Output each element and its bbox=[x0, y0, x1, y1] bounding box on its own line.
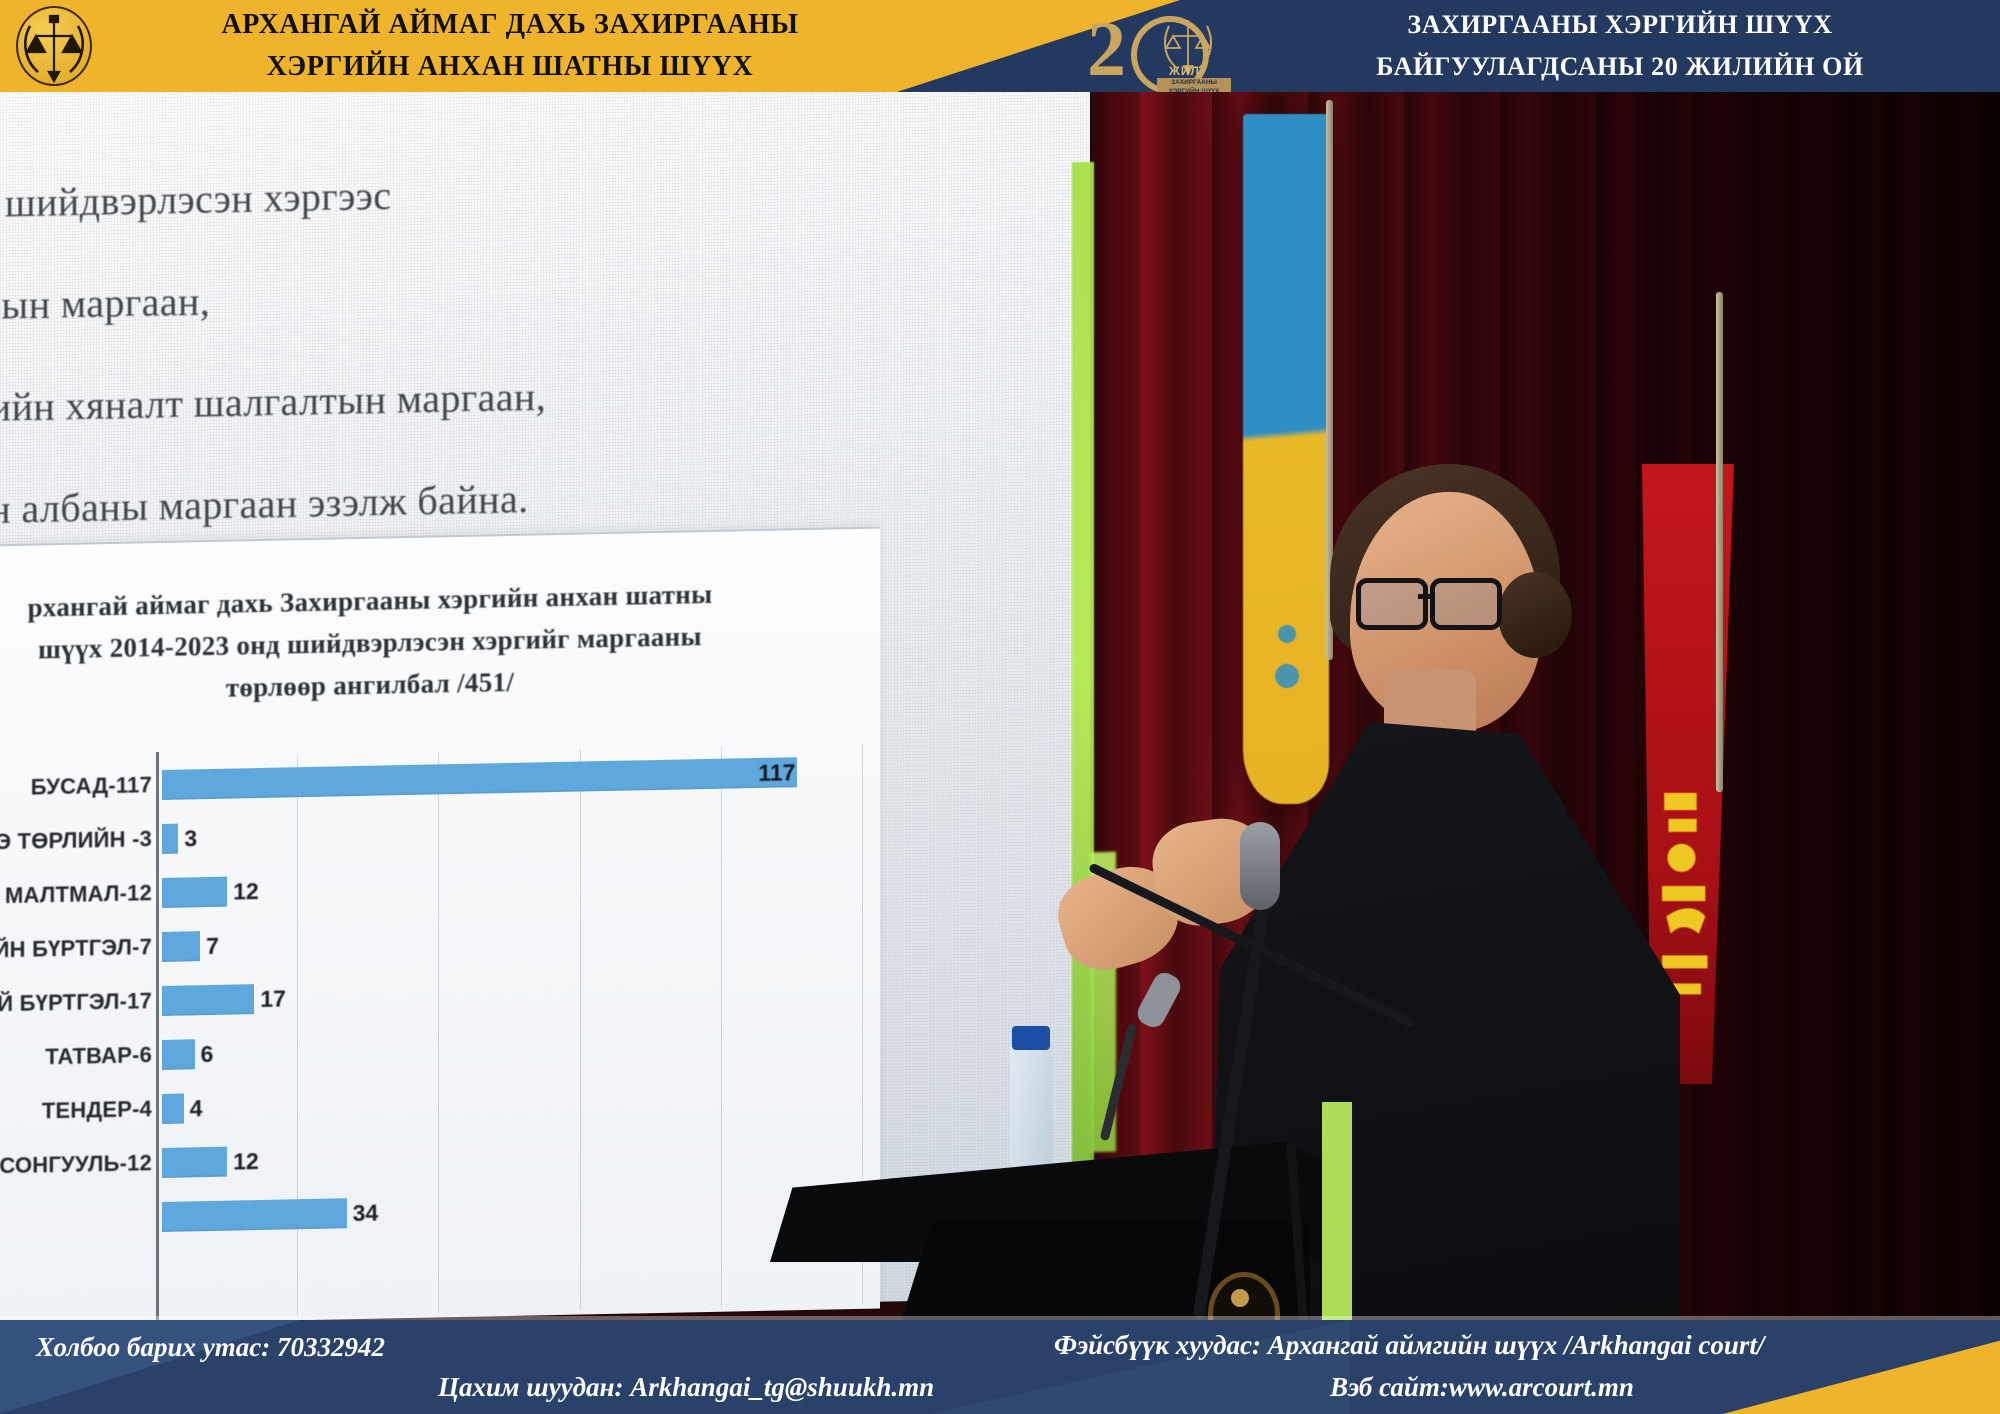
crest-scales-icon bbox=[16, 6, 92, 86]
chart-bar-wrapper: 7 bbox=[162, 918, 880, 962]
chart-bar bbox=[162, 931, 200, 962]
footer-email: Цахим шуудан: Arkhangai_tg@shuukh.mn bbox=[438, 1372, 934, 1403]
slide-line-3: % Төрийн хяналт шалгалтын маргаан, bbox=[0, 365, 940, 433]
speaker-hands bbox=[1050, 810, 1260, 1000]
anniversary-plate: ЗАХИРГААНЫ ХЭРГИЙН ШҮҮХ bbox=[1157, 78, 1231, 92]
water-bottle-cap bbox=[1012, 1026, 1050, 1050]
glasses-lens-right bbox=[1430, 578, 1502, 630]
header-right-title-line-1: ЗАХИРГААНЫ ХЭРГИЙН ШҮҮХ bbox=[1270, 4, 1970, 46]
chart-category-label: ШИНЭ ТӨРЛИЙН -3 bbox=[0, 826, 162, 858]
anniversary-plate-line-2: ХЭРГИЙН ШҮҮХ bbox=[1157, 87, 1231, 92]
chart-bar-wrapper: 34 bbox=[162, 1188, 880, 1232]
slide-line-2: % Газрын маргаан, bbox=[0, 263, 940, 331]
header-left-title-line-2: ХЭРГИЙН АНХАН ШАТНЫ ШҮҮХ bbox=[110, 46, 910, 88]
chart-bar-wrapper: 12 bbox=[162, 1134, 880, 1178]
handheld-microphone bbox=[1240, 822, 1280, 910]
footer-phone: Холбоо барих утас: 70332942 bbox=[36, 1332, 385, 1363]
chart-bar bbox=[162, 877, 227, 908]
event-photograph: д нийт шийдвэрлэсэн хэргээс % Газрын мар… bbox=[0, 92, 2000, 1320]
slide-text-block: д нийт шийдвэрлэсэн хэргээс % Газрын мар… bbox=[0, 161, 940, 590]
anniversary-number-2: 2 bbox=[1087, 10, 1126, 88]
footer-facebook: Фэйсбүүк хуудас: Архангай аймгийн шүүх /… bbox=[1054, 1330, 1764, 1361]
chart-category-label: АШИГТ МАЛТМАЛ-12 bbox=[0, 880, 162, 912]
chart-value-label: 12 bbox=[233, 1147, 259, 1175]
chart-category-label: ИРГЭНИЙ БҮРТГЭЛ-17 bbox=[0, 988, 162, 1020]
chart-category-label: БУСАД-117 bbox=[0, 772, 162, 804]
slide-line-4: Төрийн албаны маргаан эзэлж байна. bbox=[0, 467, 940, 535]
glasses-bridge bbox=[1418, 594, 1432, 599]
chart-bar-wrapper: 17 bbox=[162, 972, 880, 1016]
chart-value-label: 6 bbox=[201, 1040, 214, 1067]
chart-value-label: 117 bbox=[758, 759, 795, 787]
chart-value-label: 3 bbox=[184, 825, 197, 852]
anniversary-jil-label: ЖИЛ bbox=[1169, 64, 1200, 78]
chart-title: рхангай аймаг дахь Захиргааны хэргийн ан… bbox=[0, 571, 840, 715]
footer-right-contacts: Фэйсбүүк хуудас: Архангай аймгийн шүүх /… bbox=[1000, 1320, 2000, 1414]
chart-bar-wrapper: 12 bbox=[162, 864, 880, 908]
eyeglasses-icon bbox=[1356, 578, 1506, 624]
chart-bar-wrapper: 117 bbox=[162, 756, 880, 800]
header-left-title-line-1: АРХАНГАЙ АЙМАГ ДАХЬ ЗАХИРГААНЫ bbox=[110, 4, 910, 46]
chart-bar-wrapper: 6 bbox=[162, 1026, 880, 1070]
header-right-title: ЗАХИРГААНЫ ХЭРГИЙН ШҮҮХ БАЙГУУЛАГДСАНЫ 2… bbox=[1270, 4, 1970, 88]
screenshot-root: д нийт шийдвэрлэсэн хэргээс % Газрын мар… bbox=[0, 0, 2000, 1414]
footer-left-contacts: Холбоо барих утас: 70332942 Цахим шуудан… bbox=[0, 1320, 1000, 1414]
header-right-title-line-2: БАЙГУУЛАГДСАНЫ 20 ЖИЛИЙН ОЙ bbox=[1270, 46, 1970, 88]
chart-bar bbox=[162, 1147, 227, 1178]
page-header: АРХАНГАЙ АЙМАГ ДАХЬ ЗАХИРГААНЫ ХЭРГИЙН А… bbox=[0, 0, 2000, 92]
chart-bar bbox=[162, 1198, 347, 1232]
page-footer: Холбоо барих утас: 70332942 Цахим шуудан… bbox=[0, 1320, 2000, 1414]
chart-bar bbox=[162, 757, 797, 800]
glasses-lens-left bbox=[1356, 578, 1428, 630]
chart-category-label: ТЕНДЕР-4 bbox=[0, 1096, 162, 1128]
speaker-hair-bun bbox=[1498, 572, 1572, 658]
chart-bar-wrapper: 3 bbox=[162, 810, 880, 854]
chart-bar bbox=[162, 984, 254, 1016]
chart-bar bbox=[162, 824, 178, 854]
green-note-card bbox=[1322, 1102, 1352, 1320]
chart-category-label: ТАТВАР-6 bbox=[0, 1042, 162, 1074]
chart-value-label: 12 bbox=[233, 877, 259, 905]
chart-bar bbox=[162, 1094, 184, 1124]
water-bottle bbox=[1010, 1040, 1052, 1172]
chart-category-label: Н ЭРХИЙН БҮРТГЭЛ-7 bbox=[0, 934, 162, 966]
chart-category-label: СОНГУУЛЬ-12 bbox=[0, 1150, 162, 1182]
header-left-title: АРХАНГАЙ АЙМАГ ДАХЬ ЗАХИРГААНЫ ХЭРГИЙН А… bbox=[110, 4, 910, 88]
chart-category-label bbox=[0, 1217, 162, 1223]
chart-value-label: 17 bbox=[260, 985, 286, 1013]
chart-value-label: 7 bbox=[206, 932, 219, 959]
chart-bar bbox=[162, 1039, 195, 1070]
chart-value-label: 4 bbox=[190, 1095, 203, 1122]
chart-value-label: 34 bbox=[353, 1199, 379, 1227]
court-crest-icon bbox=[16, 6, 92, 86]
anniversary-plate-line-1: ЗАХИРГААНЫ bbox=[1157, 78, 1231, 87]
chart-bar-wrapper: 4 bbox=[162, 1080, 880, 1124]
footer-website: Вэб сайт:www.arcourt.mn bbox=[1330, 1372, 1634, 1403]
bar-chart-plot: БУСАД-117117ШИНЭ ТӨРЛИЙН -33АШИГТ МАЛТМА… bbox=[0, 744, 880, 1320]
slide-chart-card: рхангай аймаг дахь Захиргааны хэргийн ан… bbox=[0, 527, 880, 1320]
anniversary-20-logo: 2 ЖИЛ ЗАХИРГААНЫ ХЭРГИЙН ШҮҮХ bbox=[1085, 2, 1225, 92]
